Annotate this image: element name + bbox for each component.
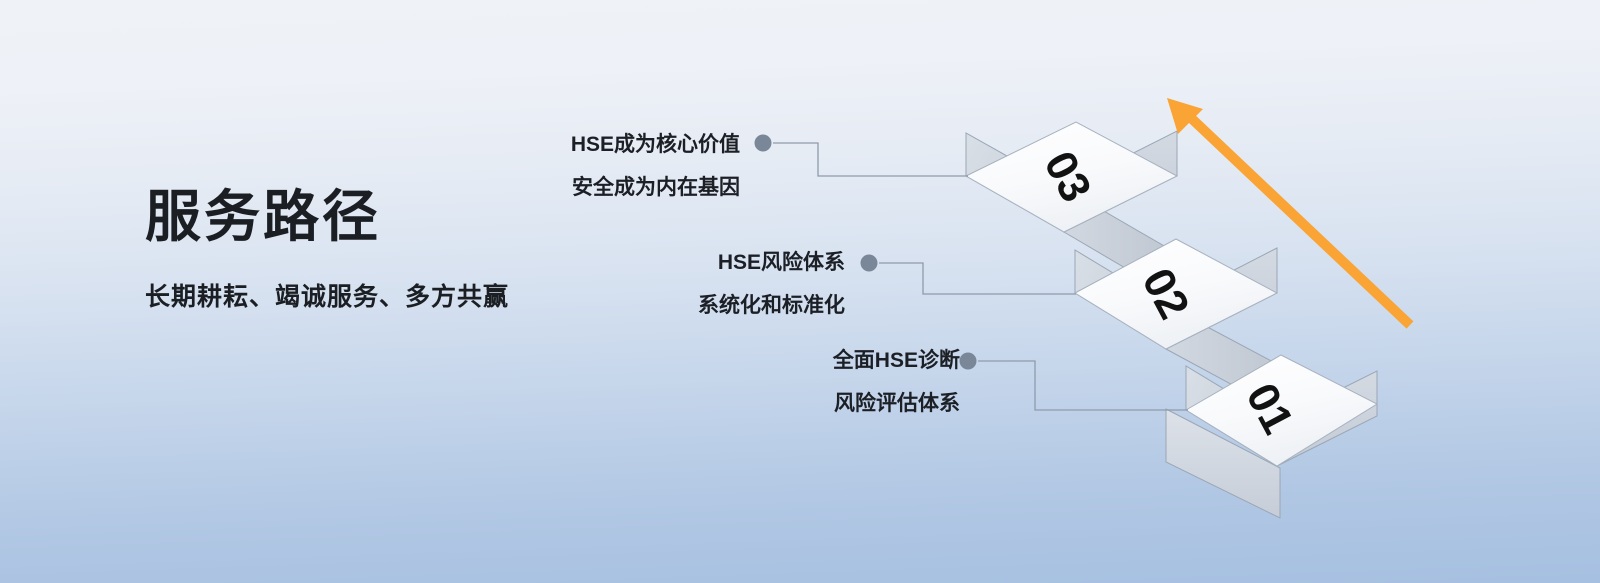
service-path-slide: 服务路径 长期耕耘、竭诚服务、多方共赢 HSE成为核心价值 安全成为内在基因 H… (0, 0, 1600, 583)
connector-dots (755, 135, 977, 370)
connector-dot-03 (755, 135, 772, 152)
connector-02 (879, 263, 1076, 294)
connector-dot-01 (960, 353, 977, 370)
staircase-diagram: 03 02 01 (0, 0, 1600, 583)
connector-01 (978, 361, 1188, 410)
connector-dot-02 (861, 255, 878, 272)
step-block-01[interactable]: 01 (1166, 355, 1377, 518)
connector-03 (773, 143, 968, 176)
